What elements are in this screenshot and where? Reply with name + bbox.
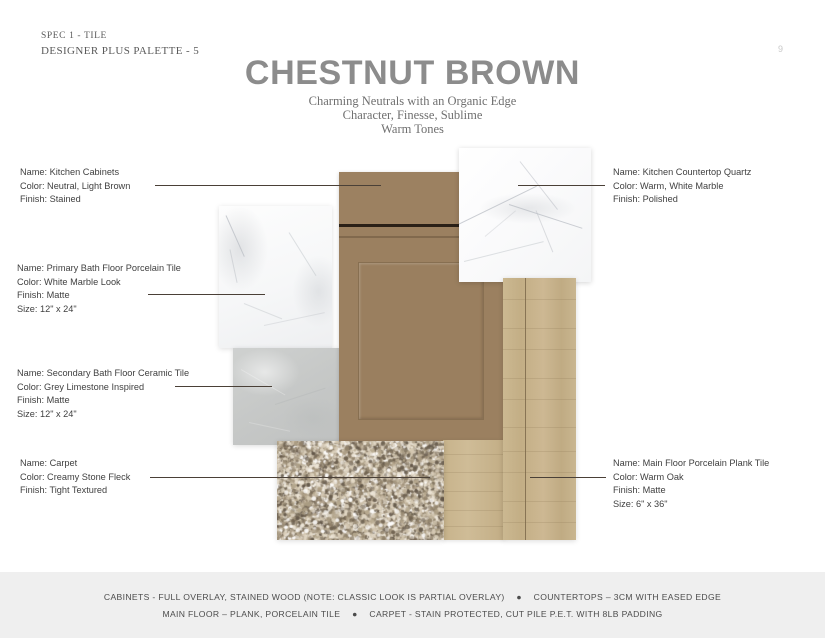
leader-line-kitchen-cabinets bbox=[155, 185, 381, 186]
leader-line-secondary-bath bbox=[175, 386, 272, 387]
swatch-kitchen-countertop-quartz bbox=[459, 148, 591, 282]
label-primary-bath-floor-name: Name: Primary Bath Floor Porcelain Tile bbox=[17, 262, 181, 276]
footer-line-2-mainfloor: MAIN FLOOR – PLANK, PORCELAIN TILE bbox=[162, 609, 340, 619]
label-kitchen-cabinets-color: Color: Neutral, Light Brown bbox=[20, 180, 130, 194]
label-carpet-color: Color: Creamy Stone Fleck bbox=[20, 471, 130, 485]
footer-band: CABINETS - FULL OVERLAY, STAINED WOOD (N… bbox=[0, 572, 825, 638]
label-secondary-bath-floor-size: Size: 12" x 24" bbox=[17, 408, 189, 422]
leader-line-carpet bbox=[150, 477, 430, 478]
label-secondary-bath-floor-name: Name: Secondary Bath Floor Ceramic Tile bbox=[17, 367, 189, 381]
footer-line-2-carpet: CARPET - STAIN PROTECTED, CUT PILE P.E.T… bbox=[369, 609, 662, 619]
label-kitchen-cabinets-name: Name: Kitchen Cabinets bbox=[20, 166, 130, 180]
label-carpet: Name: Carpet Color: Creamy Stone Fleck F… bbox=[20, 457, 130, 498]
swatch-primary-bath-porcelain-tile bbox=[219, 206, 332, 348]
label-carpet-finish: Finish: Tight Textured bbox=[20, 484, 130, 498]
label-kitchen-cabinets: Name: Kitchen Cabinets Color: Neutral, L… bbox=[20, 166, 130, 207]
swatch-main-floor-oak-plank bbox=[503, 278, 576, 540]
label-primary-bath-floor-color: Color: White Marble Look bbox=[17, 276, 181, 290]
spec-sheet-page: SPEC 1 - TILE DESIGNER PLUS PALETTE - 5 … bbox=[0, 0, 825, 638]
label-main-floor: Name: Main Floor Porcelain Plank Tile Co… bbox=[613, 457, 769, 511]
swatch-main-floor-oak-plank-secondary bbox=[443, 440, 505, 540]
label-main-floor-name: Name: Main Floor Porcelain Plank Tile bbox=[613, 457, 769, 471]
label-main-floor-finish: Finish: Matte bbox=[613, 484, 769, 498]
label-kitchen-countertop-color: Color: Warm, White Marble bbox=[613, 180, 751, 194]
footer-line-1: CABINETS - FULL OVERLAY, STAINED WOOD (N… bbox=[0, 572, 825, 602]
swatch-carpet bbox=[277, 441, 444, 540]
leader-line-main-floor bbox=[530, 477, 606, 478]
label-kitchen-countertop-name: Name: Kitchen Countertop Quartz bbox=[613, 166, 751, 180]
label-carpet-name: Name: Carpet bbox=[20, 457, 130, 471]
label-primary-bath-floor-finish: Finish: Matte bbox=[17, 289, 181, 303]
bullet-separator-icon-2: ● bbox=[343, 609, 367, 619]
bullet-separator-icon: ● bbox=[507, 592, 531, 602]
label-kitchen-countertop: Name: Kitchen Countertop Quartz Color: W… bbox=[613, 166, 751, 207]
swatch-secondary-bath-ceramic-tile bbox=[233, 348, 339, 445]
footer-line-2: MAIN FLOOR – PLANK, PORCELAIN TILE ● CAR… bbox=[0, 602, 825, 619]
label-primary-bath-floor: Name: Primary Bath Floor Porcelain Tile … bbox=[17, 262, 181, 316]
label-kitchen-cabinets-finish: Finish: Stained bbox=[20, 193, 130, 207]
label-kitchen-countertop-finish: Finish: Polished bbox=[613, 193, 751, 207]
label-secondary-bath-floor-finish: Finish: Matte bbox=[17, 394, 189, 408]
label-secondary-bath-floor-color: Color: Grey Limestone Inspired bbox=[17, 381, 189, 395]
leader-line-countertop-quartz bbox=[518, 185, 605, 186]
footer-line-1-cabinets: CABINETS - FULL OVERLAY, STAINED WOOD (N… bbox=[104, 592, 505, 602]
label-primary-bath-floor-size: Size: 12" x 24" bbox=[17, 303, 181, 317]
label-main-floor-color: Color: Warm Oak bbox=[613, 471, 769, 485]
footer-line-1-countertops: COUNTERTOPS – 3CM WITH EASED EDGE bbox=[534, 592, 721, 602]
label-main-floor-size: Size: 6" x 36" bbox=[613, 498, 769, 512]
label-secondary-bath-floor: Name: Secondary Bath Floor Ceramic Tile … bbox=[17, 367, 189, 421]
